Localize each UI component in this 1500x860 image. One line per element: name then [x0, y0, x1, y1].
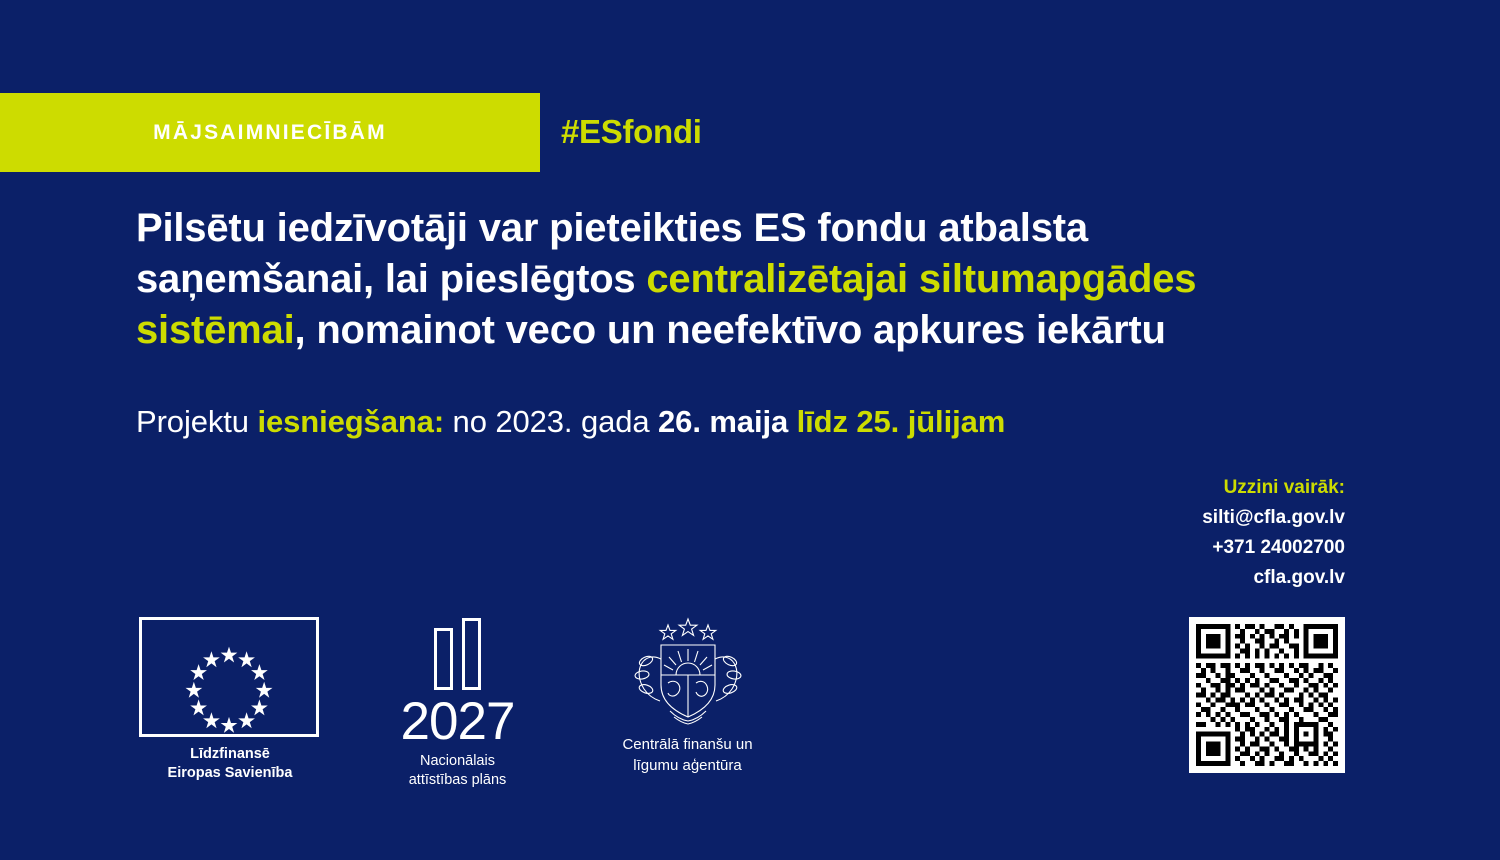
subhead-end-date: līdz 25. jūlijam — [788, 404, 1005, 439]
eu-caption-line2: Eiropas Savienība — [139, 764, 321, 783]
submission-deadline: Projektu iesniegšana: no 2023. gada 26. … — [136, 403, 1005, 441]
contact-email[interactable]: silti@cfla.gov.lv — [1202, 503, 1345, 533]
subhead-start-date: 26. maija — [658, 404, 788, 439]
qr-code[interactable] — [1189, 617, 1345, 773]
cfla-logo-caption: Centrālā finanšu un līgumu aģentūra — [600, 734, 775, 776]
nap-bars-icon — [385, 618, 530, 690]
contact-website[interactable]: cfla.gov.lv — [1202, 563, 1345, 593]
contact-heading: Uzzini vairāk: — [1202, 473, 1345, 503]
contact-block: Uzzini vairāk: silti@cfla.gov.lv +371 24… — [1202, 473, 1345, 593]
eu-flag-icon — [139, 617, 319, 737]
hashtag-label: #ESfondi — [561, 113, 702, 151]
nap-year: 2027 — [385, 694, 530, 750]
nap-logo: 2027 Nacionālais attīstības plāns — [385, 618, 530, 790]
qr-code-image — [1196, 624, 1338, 766]
nap-bar-left — [434, 628, 453, 690]
subhead-middle: no 2023. gada — [444, 404, 658, 439]
poster-canvas: MĀJSAIMNIECĪBĀM #ESfondi Pilsētu iedzīvo… — [0, 0, 1500, 860]
nap-bar-right — [462, 618, 481, 690]
latvian-coat-of-arms-icon — [600, 612, 775, 734]
nap-logo-caption: Nacionālais attīstības plāns — [385, 752, 530, 790]
contact-phone[interactable]: +371 24002700 — [1202, 533, 1345, 563]
nap-caption-line2: attīstības plāns — [385, 771, 530, 790]
subhead-submission-label: iesniegšana: — [257, 404, 444, 439]
eu-logo: Līdzfinansē Eiropas Savienība — [139, 617, 321, 783]
cfla-caption-line1: Centrālā finanšu un — [600, 734, 775, 755]
headline-part2: , nomainot veco un neefektīvo apkures ie… — [295, 308, 1166, 352]
eu-caption-line1: Līdzfinansē — [139, 745, 321, 764]
subhead-lead: Projektu — [136, 404, 257, 439]
audience-tag-label: MĀJSAIMNIECĪBĀM — [153, 121, 387, 145]
nap-caption-line1: Nacionālais — [385, 752, 530, 771]
cfla-logo: Centrālā finanšu un līgumu aģentūra — [600, 612, 775, 776]
audience-tag-band: MĀJSAIMNIECĪBĀM — [0, 93, 540, 172]
headline: Pilsētu iedzīvotāji var pieteikties ES f… — [136, 203, 1336, 356]
cfla-caption-line2: līgumu aģentūra — [600, 755, 775, 776]
eu-logo-caption: Līdzfinansē Eiropas Savienība — [139, 745, 321, 783]
